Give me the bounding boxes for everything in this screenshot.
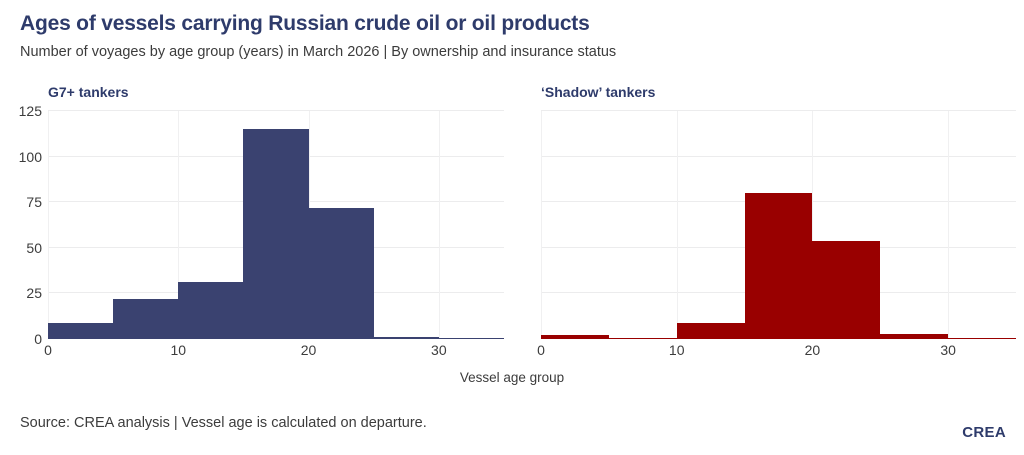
x-tick-label-10: 10 — [669, 342, 685, 358]
bar-10-15 — [677, 323, 745, 339]
x-tick-label-0: 0 — [44, 342, 52, 358]
plot-area-shadow — [541, 111, 1016, 339]
x-axis-title: Vessel age group — [0, 370, 1024, 385]
x-tick-label-0: 0 — [537, 342, 545, 358]
bar-15-20 — [243, 129, 308, 339]
axis-baseline-shadow — [541, 338, 1016, 339]
crea-logo: CREA — [943, 424, 1006, 441]
bar-15-20 — [745, 193, 813, 339]
y-tick-label-0: 0 — [34, 331, 42, 347]
x-tick-label-30: 30 — [940, 342, 956, 358]
bar-10-15 — [178, 282, 243, 339]
footer-divider — [20, 399, 1004, 400]
x-axis-labels-shadow: 0102030 — [541, 342, 1016, 364]
x-tick-label-20: 20 — [301, 342, 317, 358]
panel-shadow: ‘Shadow’ tankers 0102030 — [512, 84, 1024, 356]
y-tick-label-25: 25 — [26, 285, 42, 301]
page-title: Ages of vessels carrying Russian crude o… — [20, 12, 1024, 36]
bar-20-25 — [309, 208, 374, 339]
crea-logo-text: CREA — [962, 424, 1006, 441]
y-axis-labels-g7: 0255075100125 — [2, 111, 42, 339]
x-tick-label-20: 20 — [805, 342, 821, 358]
bar-5-10 — [113, 299, 178, 339]
source-note: Source: CREA analysis | Vessel age is ca… — [20, 415, 427, 431]
panel-g7: G7+ tankers 0255075100125 0102030 — [0, 84, 512, 356]
bar-series-shadow — [541, 111, 1016, 339]
panel-title-shadow: ‘Shadow’ tankers — [541, 84, 655, 100]
bar-20-25 — [812, 241, 880, 339]
y-tick-label-75: 75 — [26, 194, 42, 210]
y-tick-label-125: 125 — [19, 103, 42, 119]
chart-panels: G7+ tankers 0255075100125 0102030 ‘Shado… — [0, 84, 1024, 356]
chart-header: Ages of vessels carrying Russian crude o… — [0, 0, 1024, 62]
bar-series-g7 — [48, 111, 504, 339]
panel-title-g7: G7+ tankers — [48, 84, 129, 100]
plot-area-g7 — [48, 111, 504, 339]
x-axis-labels-g7: 0102030 — [48, 342, 504, 364]
crea-logo-mark-icon — [943, 425, 958, 440]
x-tick-label-10: 10 — [170, 342, 186, 358]
bar-0-5 — [48, 323, 113, 339]
y-tick-label-50: 50 — [26, 240, 42, 256]
y-tick-label-100: 100 — [19, 149, 42, 165]
axis-baseline-g7 — [48, 338, 504, 339]
page-subtitle: Number of voyages by age group (years) i… — [20, 44, 1024, 61]
x-tick-label-30: 30 — [431, 342, 447, 358]
